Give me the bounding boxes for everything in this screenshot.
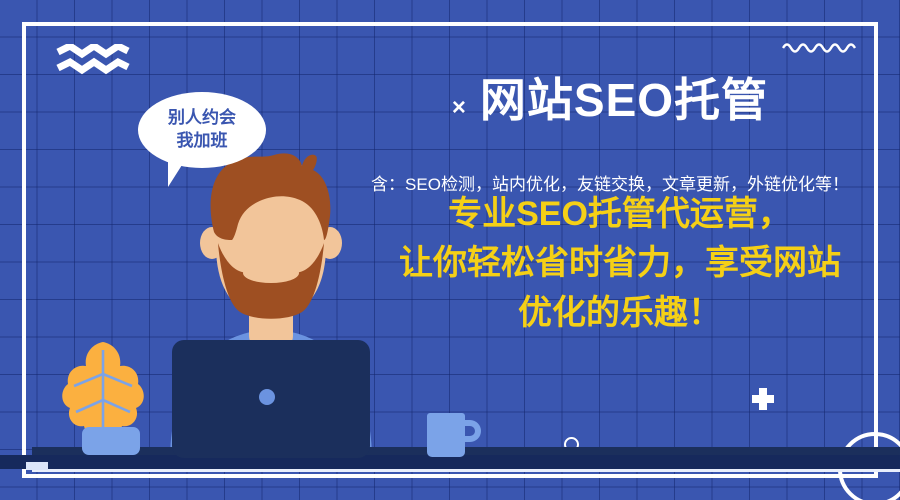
speech-bubble-line-1: 别人约会 [168,107,236,130]
title-row: × 网站SEO托管 [330,44,890,156]
pitch-line-2: 让你轻松省时省力，享受网站 [360,239,880,288]
pitch-line-1: 专业SEO托管代运营， [360,190,880,239]
seo-promo-banner: 别人约会 我加班 × 网站SEO托管 含：SEO检测，站内优化，友链交换，文章更… [0,0,900,500]
desk-highlight [32,469,900,472]
speech-bubble: 别人约会 我加班 [138,92,266,168]
plant-pot [82,427,140,455]
pitch-line-3: 优化的乐趣！ [360,289,880,338]
laptop-logo-icon [259,389,275,405]
page-title: 网站SEO托管 [480,75,768,126]
speech-bubble-line-2: 我加班 [177,130,228,153]
desk-edge-left [26,462,48,470]
headline-block: × 网站SEO托管 含：SEO检测，站内优化，友链交换，文章更新，外链优化等！ [330,44,890,195]
coffee-mug-icon [427,413,465,457]
pitch-copy: 专业SEO托管代运营， 让你轻松省时省力，享受网站 优化的乐趣！ [360,190,880,338]
close-icon: × [452,96,466,120]
